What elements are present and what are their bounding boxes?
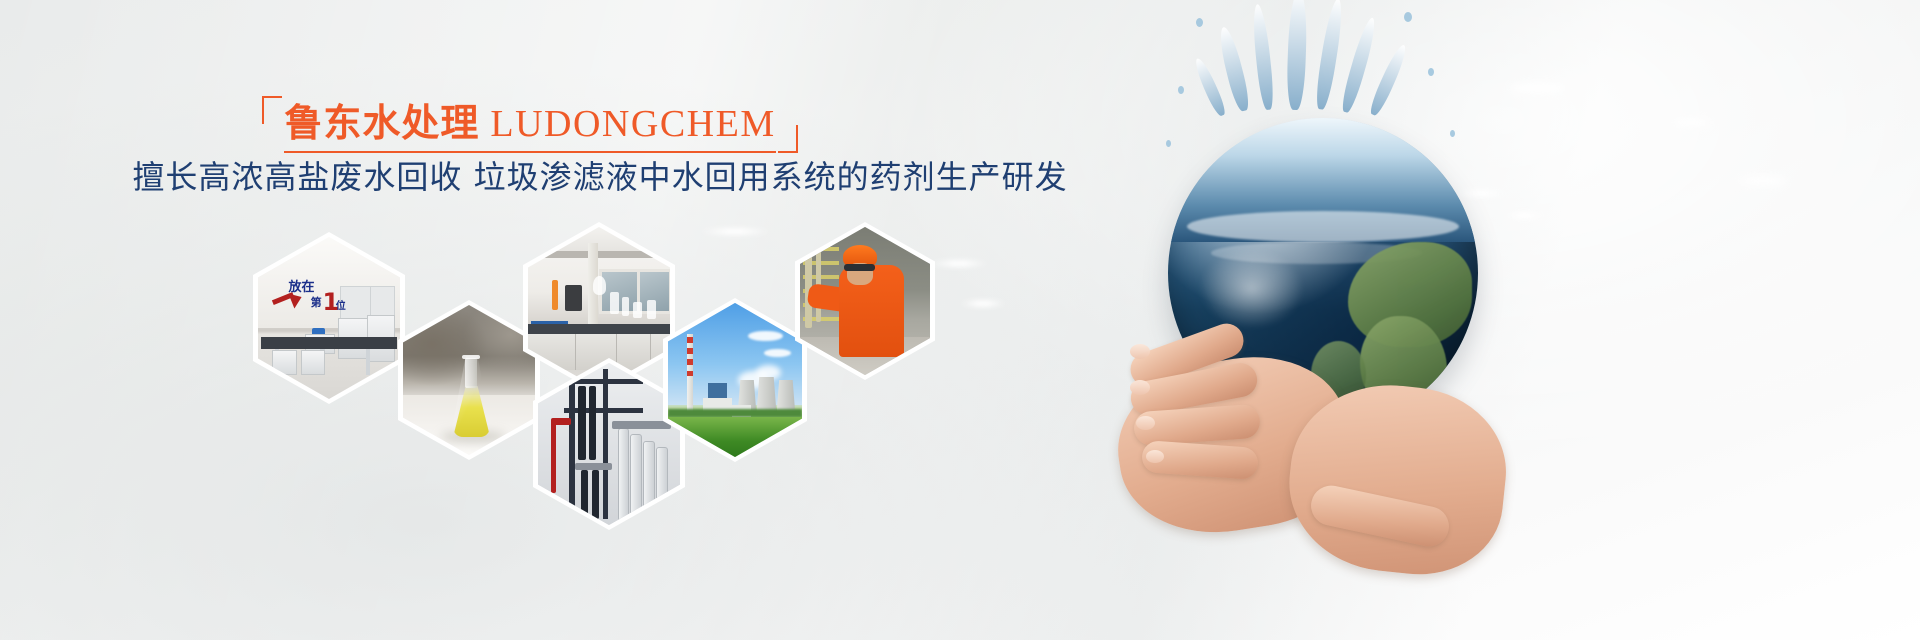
cloud-icon [1672, 118, 1710, 127]
fingernail [1130, 380, 1150, 395]
wall-slogan-line2: 第 [311, 294, 322, 310]
fingernail [1136, 416, 1155, 430]
hexagon-laboratory-room[interactable]: 放在 第 1 位 [253, 232, 405, 404]
cloud-icon [1740, 176, 1786, 186]
fingernail [1130, 344, 1150, 359]
hexagon-worker-orange-uniform[interactable] [795, 222, 935, 380]
hexagon-image-cluster: 放在 第 1 位 [0, 0, 1000, 640]
hexagon-membrane-piping-skid[interactable] [533, 358, 685, 530]
hands-holding-water-globe [1040, 0, 1600, 640]
hands [1100, 300, 1520, 630]
fingernail [1146, 450, 1164, 463]
wall-slogan-line3: 位 [336, 297, 346, 312]
hexagon-yellow-reagent-flask[interactable] [398, 300, 540, 460]
hero-banner: 鲁东水处理 LUDONGCHEM 擅长高浓高盐废水回收 垃圾渗滤液中水回用系统的… [0, 0, 1920, 640]
wall-slogan-text: 放在 第 1 位 [271, 276, 345, 315]
